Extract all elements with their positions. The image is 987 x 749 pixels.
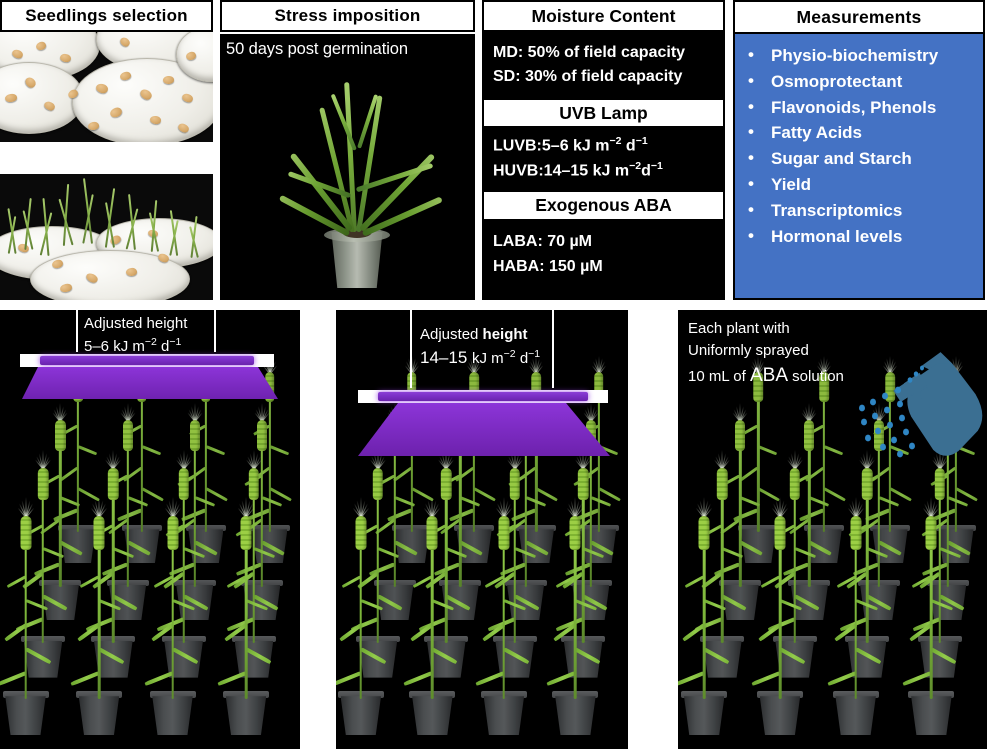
uvb-exponent: −1 [651,160,663,172]
wheat-stem [854,531,857,699]
list-item: Physio-biochemistry [744,43,983,69]
wheat-leaf [827,671,856,686]
wheat-spike [123,420,133,451]
wheat-spike [38,468,49,501]
wheat-spike [373,468,384,501]
seedling [128,194,134,250]
luvb-note-line-2: 5–6 kJ m−2 d−1 [84,335,187,358]
seedling [190,216,196,258]
uvb-light-cone-high [354,403,614,458]
uvb-exponent: −2 [610,135,622,147]
pot-body [152,696,192,735]
wheat-leaf [172,647,198,664]
potted-wheat-plant [757,523,803,735]
wheat-spike [578,468,589,501]
list-item: Transcriptomics [744,198,983,224]
wheat-spike [108,468,119,501]
wheat-leaf [98,647,124,664]
potted-wheat-plant [338,523,384,735]
panel-title-stress-imposition: Stress imposition [220,0,475,32]
wheat-leaf [0,671,26,686]
pot-body [226,696,266,735]
leaf [331,94,357,151]
aba-note-line-3: 10 mL of ABA solution [688,362,844,390]
pot-body [5,696,45,735]
wheat-leaf [930,647,956,664]
wheat-leaf [360,599,383,611]
seedling [170,210,176,256]
wheat-leaf [482,623,505,641]
wheat-spike [789,468,800,501]
potted-wheat-plant [552,523,598,735]
wheat-leaf [172,599,195,611]
uvb-light-cone-low [20,367,280,401]
wheat-spike [55,420,65,451]
petri-dishes-with-seedlings-photo [0,174,213,300]
seedling [8,206,14,254]
panel-indoor-germination: Indoor germination [0,0,213,300]
potted-wheat-plant [76,523,122,735]
pot-body [484,696,524,735]
wheat-leaf [70,671,99,686]
panel-luvb-treatment: Adjusted height 5–6 kJ m−2 d−1 [0,310,300,749]
experimental-design-figure: Indoor germination [0,0,987,749]
uvb-exponent: −1 [636,135,648,147]
wheat-leaf [25,647,51,664]
wheat-stem [431,531,434,699]
potted-wheat-plant [681,523,727,735]
wheat-spike [190,420,200,451]
panel-measurements: Measurements Physio-biochemistry Osmopro… [733,0,985,300]
wheat-stem [360,531,363,699]
wheat-spike [249,468,260,501]
uvb-exponent: −2 [629,160,641,172]
wheat-leaf [217,671,246,686]
wheat-leaf [678,671,705,686]
wheat-stem [24,531,27,699]
uvb-label: HUVB: [493,162,544,179]
wheat-plant-grid [336,428,628,749]
wheat-stem [930,531,933,699]
wheat-leaf [404,671,433,686]
wheat-leaf [411,623,434,641]
list-item: Flavonoids, Phenols [744,95,983,121]
wheat-leaf [910,623,933,641]
wheat-leaf [779,599,802,611]
list-item: Osmoprotectant [744,69,983,95]
potted-wheat-plant [223,523,269,735]
wheat-spike [178,468,189,501]
pot-body [412,696,452,735]
height-bracket-left [410,310,412,388]
wheat-leaf [360,647,386,664]
wheat-leaf [503,647,529,664]
section-header-uvb-lamp: UVB Lamp [484,98,723,128]
pot-body [79,696,119,735]
aba-annotation: Each plant with Uniformly sprayed 10 mL … [688,318,844,390]
wheat-leaf [855,599,878,611]
wheat-leaf [431,647,457,664]
wheat-leaf [751,671,780,686]
wheat-stem [779,531,782,699]
pot-body [684,696,724,735]
wheat-spike [699,516,710,550]
seedling [84,178,90,244]
wheat-leaf [574,647,600,664]
aba-note-line-1: Each plant with [688,318,844,340]
huvb-annotation: Adjusted height 14–15 kJ m−2 d−1 [420,324,540,371]
wheat-spike [509,468,520,501]
panel-aba-treatment: Each plant with Uniformly sprayed 10 mL … [678,310,987,749]
panel-stress-imposition: Stress imposition 50 days post germinati… [220,0,475,300]
stress-photo-caption: 50 days post germination [226,40,408,59]
section-body-uvb-lamp: LUVB:5–6 kJ m−2 d−1 HUVB:14–15 kJ m−2d−1 [484,128,723,190]
pot-body [555,696,595,735]
wheat-spike [167,516,178,550]
section-body-moisture-content: MD: 50% of field capacity SD: 30% of fie… [484,32,723,98]
list-item: Yield [744,172,983,198]
uvb-value: 5–6 kJ m [542,138,610,155]
huvb-note-line-1: Adjusted height [420,324,540,346]
uvb-lamp-tube [378,392,588,400]
pot-body [911,696,951,735]
uvb-lamp-high [358,390,608,403]
wheat-leaf [245,647,271,664]
aba-note-line-2: Uniformly sprayed [688,340,844,362]
wheat-leaf [144,671,173,686]
wheat-spike [241,516,252,550]
pot-body [760,696,800,735]
wheat-leaf [503,599,526,611]
seedling [62,184,68,246]
wheat-leaf [855,647,881,664]
wheat-leaf [4,623,27,641]
potted-wheat-plant [150,523,196,735]
wheat-leaf [25,599,48,611]
section-header-exogenous-aba: Exogenous ABA [484,190,723,221]
wheat-spike [717,468,728,501]
uvb-unit: d [621,138,635,155]
aba-row: LABA: 70 µM [493,230,723,254]
wheat-stem [98,531,101,699]
wheat-spike [498,516,509,550]
section-body-exogenous-aba: LABA: 70 µM HABA: 150 µM [484,221,723,288]
wheat-leaf [432,599,455,611]
uvb-label: LUVB: [493,138,542,155]
wheat-leaf [151,623,174,641]
height-bracket-right [552,310,554,388]
pot-body [341,696,381,735]
pot-body [835,696,875,735]
wheat-leaf [704,599,727,611]
seedlings-photo-canvas [0,174,213,300]
wheat-leaf [224,623,247,641]
wheat-leaf [758,623,781,641]
wheat-leaf [245,599,268,611]
panel-title-measurements: Measurements [735,2,983,34]
wheat-stem [503,531,506,699]
seedling [106,188,112,248]
height-bracket-right [214,310,216,352]
petri-dishes-with-germinating-seeds-photo [0,32,213,142]
uvb-row: HUVB:14–15 kJ m−2d−1 [493,159,723,184]
wheat-leaf [547,671,576,686]
height-bracket-left [76,310,78,352]
wheat-spike [850,516,861,550]
wheat-spike [427,516,438,550]
potted-wheat-plant [481,523,527,735]
moisture-row: SD: 30% of field capacity [493,65,723,89]
wheat-spike [774,516,785,550]
wheat-leaf [931,599,954,611]
uvb-unit: d [641,162,651,179]
wheat-leaf [575,599,598,611]
germination-photo-canvas [0,32,213,142]
wheat-leaf [77,623,100,641]
wheat-plant-grid [0,428,300,749]
aba-row: HABA: 150 µM [493,255,723,279]
luvb-annotation: Adjusted height 5–6 kJ m−2 d−1 [84,313,187,358]
panel-treatment-conditions: Moisture Content MD: 50% of field capaci… [482,0,725,300]
wheat-spike [20,516,31,550]
list-item: Fatty Acids [744,120,983,146]
uvb-value: 14–15 kJ m [544,162,629,179]
potted-wheat-plant [908,523,954,735]
panel-huvb-treatment: Adjusted height 14–15 kJ m−2 d−1 [336,310,628,749]
wheat-leaf [475,671,504,686]
measurements-list: Physio-biochemistry Osmoprotectant Flavo… [735,34,983,250]
list-item: Sugar and Starch [744,146,983,172]
seedling [42,198,48,256]
panel-title-seedlings-selection: Seedlings selection [0,0,213,32]
potted-wheat-plant [409,523,455,735]
list-item: Hormonal levels [744,224,983,250]
potted-wheat-plant [833,523,879,735]
wheat-leaf [339,623,362,641]
wheat-spike [926,516,937,550]
seedling [24,198,30,250]
wheat-stem [703,531,706,699]
wheat-stem [245,531,248,699]
wheat-spike [804,420,814,451]
wheat-spike [257,420,267,451]
wheat-plant-in-pot-photo: 50 days post germination [220,34,475,300]
wheat-plant-grid [678,428,987,749]
moisture-row: MD: 50% of field capacity [493,41,723,65]
wheat-spike [355,516,366,550]
wheat-spike [94,516,105,550]
luvb-note-line-1: Adjusted height [84,313,187,335]
wheat-stem [574,531,577,699]
wheat-leaf [703,647,729,664]
wheat-spike [441,468,452,501]
section-header-moisture-content: Moisture Content [484,2,723,32]
wheat-leaf [98,599,121,611]
wheat-spike [570,516,581,550]
uvb-row: LUVB:5–6 kJ m−2 d−1 [493,134,723,159]
wheat-leaf [336,671,362,686]
potted-wheat-plant [3,523,49,735]
huvb-note-line-2: 14–15 kJ m−2 d−1 [420,346,540,371]
wheat-leaf [834,623,857,641]
wheat-stem [171,531,174,699]
wheat-leaf [903,671,932,686]
wheat-leaf [779,647,805,664]
spray-bottle-icon [838,350,987,475]
wheat-spike [735,420,745,451]
wheat-leaf [682,623,705,641]
wheat-leaf [554,623,577,641]
seedling [150,200,156,252]
